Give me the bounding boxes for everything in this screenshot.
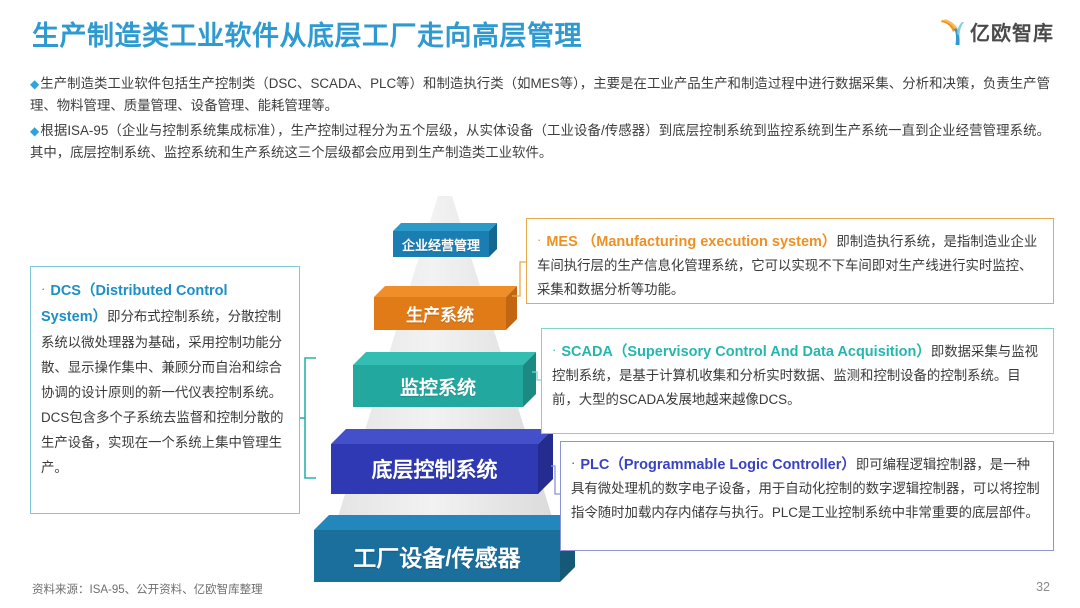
intro-paragraph-2-text: 根据ISA-95（企业与控制系统集成标准），生产控制过程分为五个层级，从实体设备… (30, 123, 1050, 160)
intro-paragraph-1-text: 生产制造类工业软件包括生产控制类（DSC、SCADA、PLC等）和制造执行类（如… (30, 76, 1050, 113)
brand-logo-text: 亿欧智库 (970, 17, 1054, 46)
callout-bullet-icon: · (537, 232, 541, 247)
yiou-logo-icon (940, 18, 966, 46)
intro-paragraph-2: ◆根据ISA-95（企业与控制系统集成标准），生产控制过程分为五个层级，从实体设… (30, 120, 1050, 164)
pyramid-level-4[interactable]: 底层控制系统 (331, 429, 553, 494)
callout-plc-text: ·PLC（Programmable Logic Controller）即可编程逻… (561, 442, 1053, 534)
diamond-bullet-icon: ◆ (30, 77, 39, 91)
page-number: 32 (1036, 580, 1050, 594)
page-header: 生产制造类工业软件从底层工厂走向高层管理 亿欧智库 (0, 0, 1080, 62)
callout-dcs-text: ·DCS（Distributed Control System）即分布式控制系统… (31, 267, 299, 489)
pyramid-level-5-label: 工厂设备/传感器 (314, 530, 560, 582)
source-note: 资料来源：ISA-95、公开资料、亿欧智库整理 (32, 581, 263, 597)
callout-scada-heading: SCADA（Supervisory Control And Data Acqui… (561, 344, 931, 360)
callout-plc[interactable]: ·PLC（Programmable Logic Controller）即可编程逻… (560, 441, 1054, 551)
intro-paragraph-1: ◆生产制造类工业软件包括生产控制类（DSC、SCADA、PLC等）和制造执行类（… (30, 73, 1050, 117)
pyramid-level-2[interactable]: 生产系统 (374, 286, 517, 330)
pyramid-level-2-label: 生产系统 (374, 297, 506, 330)
pyramid-level-3-label: 监控系统 (353, 365, 523, 407)
pyramid-level-3[interactable]: 监控系统 (353, 352, 536, 407)
callout-bullet-icon: · (41, 281, 45, 296)
callout-dcs-body: 即分布式控制系统，分散控制系统以微处理器为基础，采用控制功能分散、显示操作集中、… (41, 309, 284, 475)
pyramid-level-5[interactable]: 工厂设备/传感器 (314, 515, 575, 582)
pyramid-level-1[interactable]: 企业经营管理 (393, 223, 497, 257)
callout-bullet-icon: · (571, 455, 575, 470)
callout-plc-heading: PLC（Programmable Logic Controller） (580, 457, 856, 473)
callout-mes[interactable]: ·MES （Manufacturing execution system）即制造… (526, 218, 1054, 304)
diamond-bullet-icon: ◆ (30, 124, 39, 138)
pyramid-level-4-label: 底层控制系统 (331, 444, 538, 494)
page-title: 生产制造类工业软件从底层工厂走向高层管理 (32, 14, 582, 53)
callout-mes-heading: MES （Manufacturing execution system） (546, 234, 836, 250)
callout-mes-text: ·MES （Manufacturing execution system）即制造… (527, 219, 1053, 311)
brand-logo: 亿欧智库 (940, 17, 1054, 46)
callout-bullet-icon: · (552, 342, 556, 357)
callout-scada[interactable]: ·SCADA（Supervisory Control And Data Acqu… (541, 328, 1054, 434)
callout-dcs[interactable]: ·DCS（Distributed Control System）即分布式控制系统… (30, 266, 300, 514)
pyramid-level-1-label: 企业经营管理 (393, 231, 489, 257)
callout-scada-text: ·SCADA（Supervisory Control And Data Acqu… (542, 329, 1053, 421)
